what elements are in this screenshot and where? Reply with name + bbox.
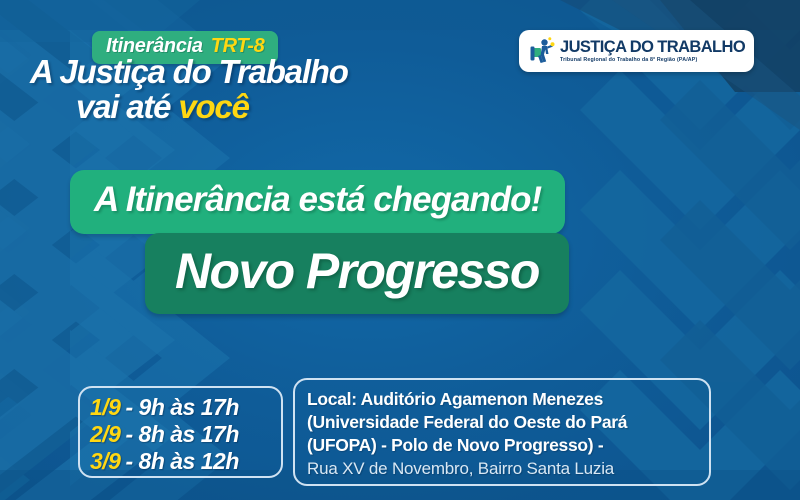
schedule-box: 1/9 - 9h às 17h 2/9 - 8h às 17h 3/9 - 8h… (78, 386, 283, 478)
location-line-3: (UFOPA) - Polo de Novo Progresso) - (307, 434, 697, 457)
justice-worker-figure-icon (529, 37, 555, 65)
banner-announcement: A Itinerância está chegando! (70, 170, 565, 234)
logo-subtitle: Tribunal Regional do Trabalho da 8ª Regi… (560, 56, 745, 64)
event-poster: Itinerância TRT-8 A Justiça do Trabalho … (0, 0, 800, 500)
location-line-1: Local: Auditório Agamenon Menezes (307, 388, 697, 411)
headline-line-2: vai até você (30, 90, 450, 124)
logo-title: JUSTIÇA DO TRABALHO (560, 39, 745, 56)
headline-line-2-yellow: você (178, 88, 248, 125)
logo-text-block: JUSTIÇA DO TRABALHO Tribunal Regional do… (560, 39, 745, 64)
poster-headline: A Justiça do Trabalho vai até você (30, 55, 450, 124)
schedule-time: - 8h às 17h (125, 421, 238, 448)
location-box: Local: Auditório Agamenon Menezes (Unive… (293, 378, 711, 486)
location-line-2: (Universidade Federal do Oeste do Pará (307, 411, 697, 434)
schedule-day: 2/9 (90, 421, 120, 448)
banner-announcement-text: A Itinerância está chegando! (94, 180, 541, 219)
schedule-row: 3/9 - 8h às 12h (90, 448, 273, 475)
schedule-day: 1/9 (90, 394, 120, 421)
schedule-day: 3/9 (90, 448, 120, 475)
headline-line-1: A Justiça do Trabalho (30, 55, 450, 89)
schedule-time: - 8h às 12h (125, 448, 238, 475)
banner-city-text: Novo Progresso (175, 243, 539, 299)
schedule-row: 1/9 - 9h às 17h (90, 394, 273, 421)
justica-do-trabalho-logo-card: JUSTIÇA DO TRABALHO Tribunal Regional do… (519, 30, 754, 72)
headline-line-2-white: vai até (76, 88, 170, 125)
schedule-time: - 9h às 17h (125, 394, 238, 421)
banner-city-name: Novo Progresso (145, 233, 569, 314)
schedule-row: 2/9 - 8h às 17h (90, 421, 273, 448)
location-line-4: Rua XV de Novembro, Bairro Santa Luzia (307, 457, 697, 481)
